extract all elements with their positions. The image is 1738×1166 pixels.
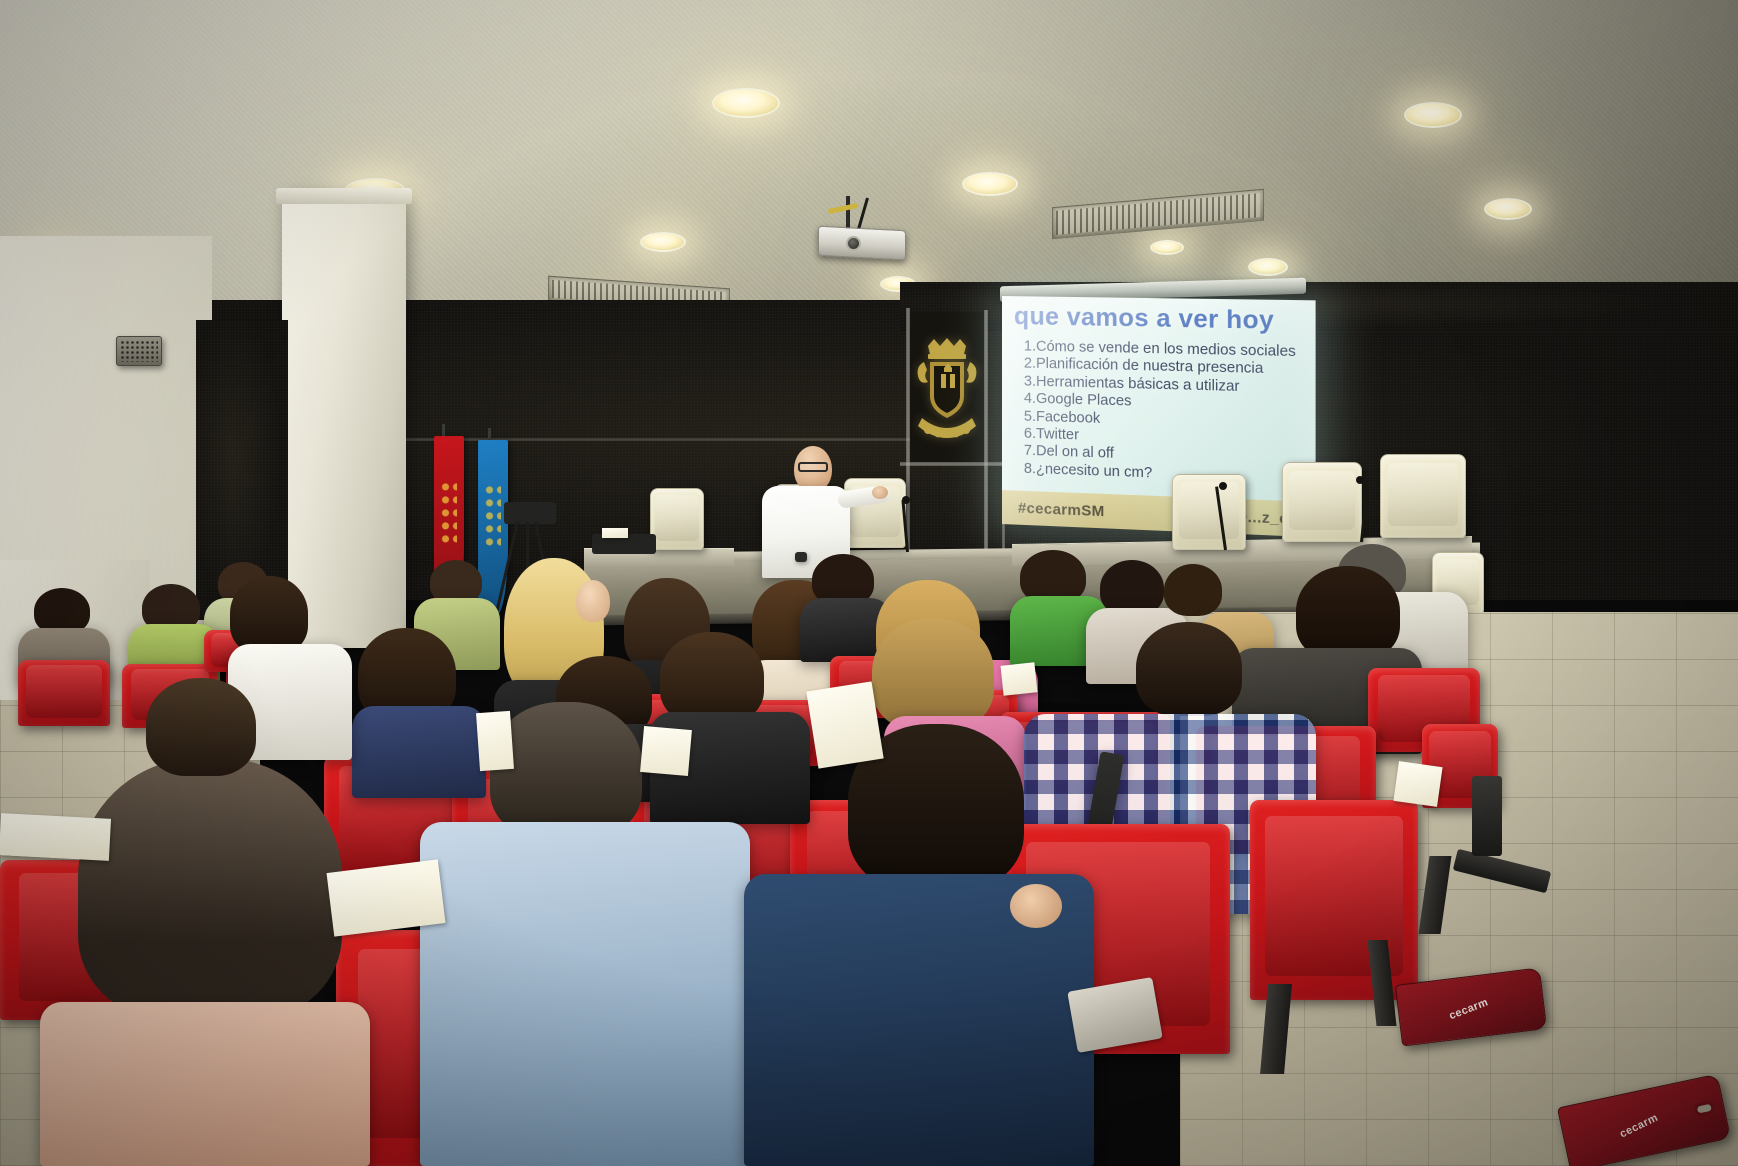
audience-hair bbox=[1296, 566, 1400, 660]
ceiling-light-icon bbox=[962, 172, 1018, 196]
handout-paper bbox=[1393, 761, 1442, 807]
audience-torso bbox=[420, 822, 750, 1166]
projector-lens-icon bbox=[846, 236, 861, 251]
handout-paper bbox=[0, 813, 111, 861]
ceiling-light-icon bbox=[1484, 198, 1532, 220]
handout-paper bbox=[476, 711, 514, 771]
presenter-glasses-icon bbox=[798, 462, 828, 472]
flag-emblem bbox=[484, 486, 501, 549]
microphone-head-icon bbox=[1219, 482, 1227, 490]
audience-torso bbox=[40, 1002, 370, 1166]
presenter-hand bbox=[872, 486, 888, 499]
slide-title: que vamos a ver hoy bbox=[1014, 302, 1274, 336]
ceiling-light-icon bbox=[1248, 258, 1288, 276]
audience-hair bbox=[78, 758, 342, 1018]
audience-hair bbox=[1136, 622, 1242, 716]
stage-chair bbox=[1380, 454, 1466, 538]
audience-hair bbox=[660, 632, 764, 724]
microphone-head-icon bbox=[1356, 476, 1364, 484]
wall-mullion bbox=[984, 310, 988, 570]
audience-hair bbox=[230, 576, 308, 654]
bag-brand-label: cecarm bbox=[1618, 1112, 1660, 1141]
coat-of-arms-panel bbox=[910, 312, 984, 462]
ceiling-projector bbox=[818, 226, 906, 261]
handout-paper bbox=[1001, 662, 1038, 695]
chair-armrest bbox=[1472, 776, 1502, 856]
auditorium-seat bbox=[18, 660, 110, 726]
slide-bullet-list: 1.Cómo se vende en los medios sociales 2… bbox=[1024, 338, 1296, 488]
ceiling-shading bbox=[0, 0, 1738, 330]
ceiling-light-icon bbox=[1404, 102, 1462, 128]
wall-speaker-icon bbox=[116, 336, 162, 366]
audience-hair bbox=[1164, 564, 1222, 616]
wall-mullion bbox=[900, 462, 1006, 466]
microphone-head-icon bbox=[902, 496, 910, 504]
conference-room-photo: que vamos a ver hoy 1.Cómo se vende en l… bbox=[0, 0, 1738, 1166]
video-camera bbox=[504, 502, 556, 524]
audience-hair bbox=[872, 618, 994, 730]
blue-flag bbox=[478, 440, 508, 616]
structural-column bbox=[282, 196, 406, 648]
bag-handle bbox=[1693, 1101, 1715, 1118]
ceiling-light-icon bbox=[1150, 240, 1184, 255]
stage-document bbox=[602, 528, 628, 538]
handout-paper bbox=[806, 681, 883, 768]
suspended-ceiling bbox=[0, 0, 1738, 330]
slide-hashtag: #cecarmSM bbox=[1018, 499, 1105, 520]
stage-chair bbox=[650, 488, 704, 550]
handout-paper bbox=[640, 726, 692, 776]
flag-emblem bbox=[440, 483, 457, 548]
bag-brand-label: cecarm bbox=[1447, 997, 1490, 1023]
auditorium-seat bbox=[1250, 800, 1418, 1000]
ceiling-light-icon bbox=[640, 232, 686, 252]
audience-hair bbox=[146, 678, 256, 776]
audience-hand bbox=[1010, 884, 1062, 928]
stage-chair bbox=[1172, 474, 1246, 550]
audience-head bbox=[576, 580, 610, 622]
presenter-wristwatch bbox=[795, 552, 807, 562]
handout-paper bbox=[327, 859, 446, 936]
projection-screen: que vamos a ver hoy 1.Cómo se vende en l… bbox=[1002, 296, 1316, 537]
column-capital bbox=[276, 188, 412, 204]
audience-torso bbox=[352, 706, 486, 798]
ceiling-light-icon bbox=[712, 88, 780, 118]
municipal-crest-icon bbox=[910, 332, 984, 442]
stage-chair bbox=[1282, 462, 1362, 542]
audience-hair bbox=[490, 702, 642, 838]
